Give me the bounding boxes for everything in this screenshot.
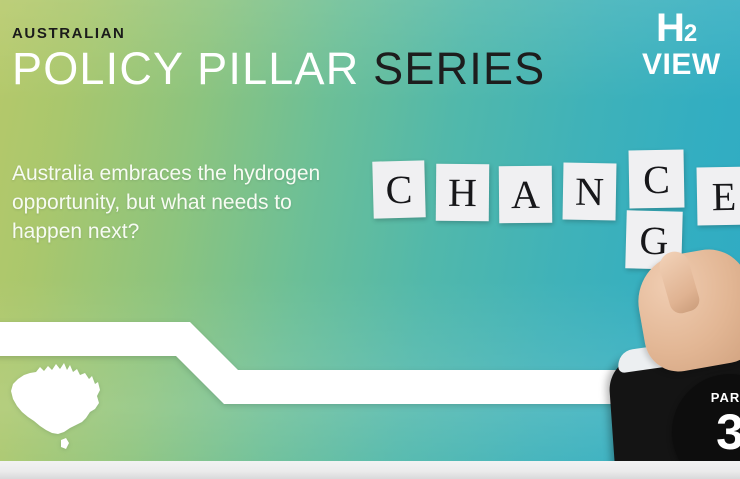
title-secondary: SERIES xyxy=(373,43,545,94)
letter-tile: H xyxy=(436,164,489,221)
page-title: POLICY PILLAR SERIES xyxy=(12,45,532,93)
logo-mark-letter: H xyxy=(656,6,684,50)
australia-map-icon xyxy=(6,360,114,456)
letter-tile: E xyxy=(696,167,740,226)
letter-tile: A xyxy=(499,166,552,223)
letter-tile: C xyxy=(628,150,684,209)
part-badge-label: PART xyxy=(672,374,740,405)
banner-subtitle: Australia embraces the hydrogen opportun… xyxy=(12,160,342,247)
logo-mark-subscript: 2 xyxy=(684,20,696,47)
header-text-block: AUSTRALIAN POLICY PILLAR SERIES xyxy=(12,26,532,93)
policy-pillar-banner: AUSTRALIAN POLICY PILLAR SERIES Australi… xyxy=(0,0,740,479)
h2-view-logo[interactable]: H2 VIEW xyxy=(642,8,740,80)
logo-mark: H2 xyxy=(656,8,740,48)
part-badge-number: 3 xyxy=(672,407,740,457)
logo-wordmark: VIEW xyxy=(642,50,740,80)
letter-tile: N xyxy=(563,163,617,221)
bottom-strip xyxy=(0,461,740,479)
title-primary: POLICY PILLAR xyxy=(12,43,359,94)
letter-tile: C xyxy=(372,160,425,218)
kicker-australian: AUSTRALIAN xyxy=(12,26,532,41)
